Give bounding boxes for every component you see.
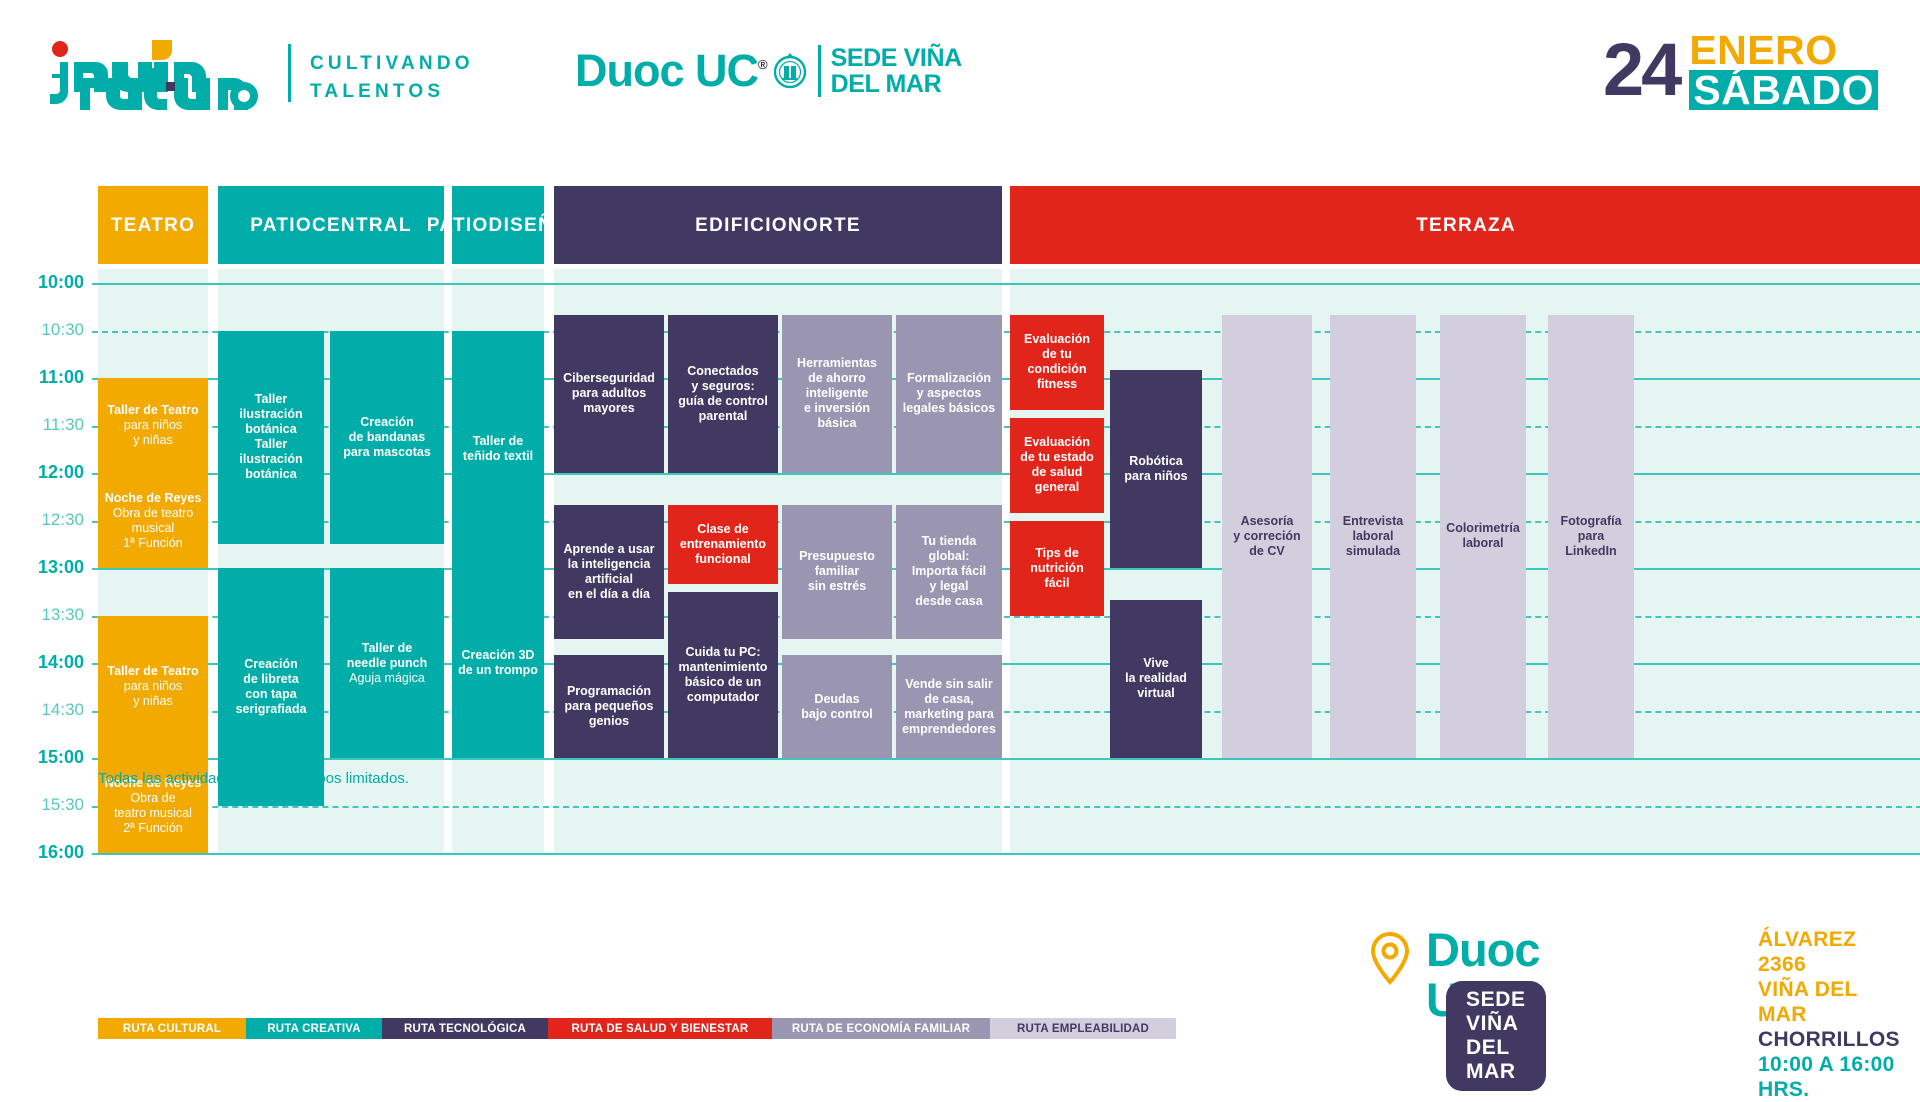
event-title: Taller de Teatro — [107, 664, 198, 679]
legend-item: RUTA CREATIVA — [246, 1018, 382, 1039]
event-title-line: de un trompo — [458, 663, 538, 678]
event-label: Conectadosy seguros:guía de controlparen… — [678, 364, 768, 424]
event-title-line: serigrafiada — [236, 702, 307, 717]
legend-item: RUTA DE SALUD Y BIENESTAR — [548, 1018, 772, 1039]
event-title-line: desde casa — [912, 594, 986, 609]
event-block[interactable]: Tips denutriciónfácil — [1010, 521, 1104, 616]
event-title-line: global: — [912, 549, 986, 564]
event-title-line: Creación 3D — [458, 648, 538, 663]
event-title-line: Herramientas — [797, 356, 877, 371]
event-block[interactable]: Programaciónpara pequeñosgenios — [554, 655, 664, 758]
event-title-line: familiar — [799, 564, 875, 579]
event-label: Ciberseguridadpara adultosmayores — [563, 371, 655, 416]
column-header-terraza: TERRAZA — [1010, 186, 1920, 264]
legend-label: RUTA CULTURAL — [123, 1023, 221, 1035]
event-title-line: y seguros: — [678, 379, 768, 394]
event-title-line: Evaluación — [1020, 435, 1094, 450]
legend-item: RUTA DE ECONOMÍA FAMILIAR — [772, 1018, 990, 1039]
column-header-patio-central: PATIOCENTRAL — [218, 186, 444, 264]
event-title-line: laboral — [1446, 536, 1520, 551]
event-title-line: simulada — [1343, 544, 1403, 559]
event-title-line: para pequeños — [565, 699, 654, 714]
event-title-line: marketing para — [902, 707, 996, 722]
event-title-line: computador — [679, 690, 768, 705]
event-subtitle: Obra de teatro — [105, 506, 202, 521]
time-label-1230: 12:30 — [6, 510, 84, 530]
column-header-label-2: CENTRAL — [312, 214, 412, 237]
event-subtitle: teatro musical — [105, 806, 202, 821]
event-label: Asesoríay correciónde CV — [1233, 514, 1300, 559]
event-title-line: de casa, — [902, 692, 996, 707]
event-title-line: Aprende a usar — [563, 542, 654, 557]
time-label-1130: 11:30 — [6, 415, 84, 435]
event-label: Entrevistalaboralsimulada — [1343, 514, 1403, 559]
column-header-label: TERRAZA — [1416, 214, 1516, 237]
column-header-label: TEATRO — [111, 214, 196, 237]
event-label: Presupuestofamiliarsin estrés — [799, 549, 875, 594]
column-header-label: PATIO — [427, 214, 489, 237]
event-title-line: fitness — [1024, 377, 1090, 392]
event-title-line: artificial — [563, 572, 654, 587]
event-title-line: condición — [1024, 362, 1090, 377]
event-subtitle: Aguja mágica — [347, 671, 428, 686]
event-title-line: de CV — [1233, 544, 1300, 559]
event-title-line: Tu tienda — [912, 534, 986, 549]
event-label: Tips denutriciónfácil — [1030, 546, 1083, 591]
time-gridline — [92, 853, 1920, 855]
event-title-line: básico de un — [679, 675, 768, 690]
event-title-line: Vive — [1125, 656, 1187, 671]
registered-icon: ® — [758, 57, 768, 72]
event-subtitle: para niños — [107, 679, 198, 694]
event-block[interactable]: Evaluaciónde tu estadode saludgeneral — [1010, 418, 1104, 513]
time-label-1500: 15:00 — [6, 747, 84, 768]
event-subtitle: 1ª Función — [105, 536, 202, 551]
event-title-line: Fotografía — [1560, 514, 1621, 529]
event-label: Creaciónde bandanaspara mascotas — [343, 415, 431, 460]
event-block[interactable]: Aprende a usarla inteligenciaartificiale… — [554, 505, 664, 640]
event-title-line: teñido textil — [463, 449, 533, 464]
legend-item: RUTA EMPLEABILIDAD — [990, 1018, 1176, 1039]
event-block[interactable]: Conectadosy seguros:guía de controlparen… — [668, 315, 778, 473]
event-title-line: y correción — [1233, 529, 1300, 544]
column-header-label: PATIO — [250, 214, 312, 237]
event-block[interactable]: Entrevistalaboralsimulada — [1330, 315, 1416, 758]
sede-line-2: DEL MAR — [831, 71, 962, 97]
event-block[interactable]: Formalizacióny aspectoslegales básicos — [896, 315, 1002, 473]
event-subtitle: y niñas — [107, 694, 198, 709]
event-block[interactable]: Taller de Teatropara niñosy niñas — [98, 378, 208, 473]
uc-seal-icon — [770, 48, 810, 95]
event-title-line: Taller de — [347, 641, 428, 656]
event-title-line: Cuida tu PC: — [679, 645, 768, 660]
event-title-line: para adultos — [563, 386, 655, 401]
time-gridline — [92, 758, 1920, 760]
time-label-1400: 14:00 — [6, 652, 84, 673]
legend-label: RUTA DE SALUD Y BIENESTAR — [572, 1023, 749, 1035]
event-block[interactable]: Taller deneedle punchAguja mágica — [330, 568, 444, 758]
event-title-line: en el día a día — [563, 587, 654, 602]
event-title-line: bajo control — [801, 707, 873, 722]
event-title-line: Tips de — [1030, 546, 1083, 561]
address-city: VIÑA DEL MAR — [1758, 977, 1900, 1027]
duoc-uc-logo: Duoc UC®SEDE VIÑADEL MAR — [575, 45, 962, 97]
event-label: Deudasbajo control — [801, 692, 873, 722]
event-title-line: needle punch — [347, 656, 428, 671]
event-title-line: de tu estado — [1020, 450, 1094, 465]
event-label: Creaciónde libretacon tapaserigrafiada — [236, 657, 307, 717]
event-block[interactable]: Creaciónde bandanaspara mascotas — [330, 331, 444, 545]
sede-line-1: SEDE VIÑA — [831, 45, 962, 71]
event-block[interactable]: Presupuestofamiliarsin estrés — [782, 505, 892, 640]
event-title-line: Conectados — [678, 364, 768, 379]
time-label-1300: 13:00 — [6, 557, 84, 578]
event-title-line: virtual — [1125, 686, 1187, 701]
event-block[interactable]: Noche de ReyesObra de teatromusical1ª Fu… — [98, 473, 208, 568]
event-subtitle: para niños — [107, 418, 198, 433]
event-title-line: Clase de — [680, 522, 766, 537]
event-block[interactable]: Taller ilustración botánicaTallerilustra… — [218, 331, 324, 545]
event-title-line: la realidad — [1125, 671, 1187, 686]
event-title-line: laboral — [1343, 529, 1403, 544]
event-title-line: Robótica — [1124, 454, 1187, 469]
jardin-futuro-logo — [48, 38, 258, 110]
footer-address: ÁLVAREZ 2366 VIÑA DEL MAR CHORRILLOS 10:… — [1758, 927, 1900, 1102]
event-title-line: mayores — [563, 401, 655, 416]
event-label: Robóticapara niños — [1124, 454, 1187, 484]
event-block[interactable]: Ciberseguridadpara adultosmayores — [554, 315, 664, 473]
event-title-line: Asesoría — [1233, 514, 1300, 529]
legend-label: RUTA EMPLEABILIDAD — [1017, 1023, 1149, 1035]
duoc-uc-wordmark: Duoc UC — [575, 48, 758, 94]
schedule-grid: TEATROPATIOCENTRALPATIODISEÑOEDIFICIONOR… — [0, 148, 1920, 918]
event-date-badge: 24ENEROSÁBADO — [1603, 30, 1878, 110]
event-title-line: legales básicos — [903, 401, 995, 416]
event-title-line: de tu — [1024, 347, 1090, 362]
event-title-line: de salud — [1020, 465, 1094, 480]
date-weekday: SÁBADO — [1689, 70, 1878, 110]
event-title-line: Deudas — [801, 692, 873, 707]
event-label: Cuida tu PC:mantenimientobásico de uncom… — [679, 645, 768, 705]
column-header-label: EDIFICIO — [695, 214, 788, 237]
event-title-line: de ahorro — [797, 371, 877, 386]
event-block[interactable]: Taller deteñido textil — [452, 331, 544, 569]
event-title-line: Entrevista — [1343, 514, 1403, 529]
event-label: Herramientasde ahorrointeligentee invers… — [797, 356, 877, 431]
event-block[interactable]: Vivela realidadvirtual — [1110, 600, 1202, 758]
event-title-line: de bandanas — [343, 430, 431, 445]
legend-label: RUTA TECNOLÓGICA — [404, 1023, 526, 1035]
event-block[interactable]: FotografíaparaLinkedIn — [1548, 315, 1634, 758]
event-title-line: Taller — [222, 437, 320, 452]
location-pin-icon — [1368, 931, 1412, 990]
event-title: Taller ilustración botánica — [222, 392, 320, 437]
event-label: Evaluaciónde tu estadode saludgeneral — [1020, 435, 1094, 495]
poster-root: CULTIVANDO TALENTOS Duoc UC®SEDE VIÑADEL… — [0, 0, 1920, 1080]
event-label: Creación 3Dde un trompo — [458, 648, 538, 678]
event-title-line: básica — [797, 416, 877, 431]
event-title-line: Creación — [343, 415, 431, 430]
event-block[interactable]: Evaluaciónde tucondiciónfitness — [1010, 315, 1104, 410]
footer-sede-pill: SEDE VIÑA DEL MAR — [1446, 981, 1546, 1091]
event-block[interactable]: Robóticapara niños — [1110, 370, 1202, 568]
event-label: Tu tiendaglobal:Importa fácily legaldesd… — [912, 534, 986, 609]
event-label: Noche de ReyesObra de teatromusical1ª Fu… — [105, 491, 202, 551]
address-district: CHORRILLOS — [1758, 1027, 1900, 1052]
event-title-line: funcional — [680, 552, 766, 567]
event-label: Formalizacióny aspectoslegales básicos — [903, 371, 995, 416]
event-title-line: fácil — [1030, 576, 1083, 591]
column-header-edificio-norte: EDIFICIONORTE — [554, 186, 1002, 264]
legend-item: RUTA TECNOLÓGICA — [382, 1018, 548, 1039]
event-label: Taller de Teatropara niñosy niñas — [107, 403, 198, 448]
event-title-line: Creación — [236, 657, 307, 672]
date-day-number: 24 — [1603, 33, 1679, 107]
event-title-line: sin estrés — [799, 579, 875, 594]
event-title-line: la inteligencia — [563, 557, 654, 572]
time-label-1030: 10:30 — [6, 320, 84, 340]
event-label: Clase deentrenamientofuncional — [680, 522, 766, 567]
event-block[interactable]: Herramientasde ahorrointeligentee invers… — [782, 315, 892, 473]
event-block[interactable]: Cuida tu PC:mantenimientobásico de uncom… — [668, 592, 778, 758]
event-label: Aprende a usarla inteligenciaartificiale… — [563, 542, 654, 602]
event-title-line: ilustración — [222, 452, 320, 467]
event-label: Colorimetríalaboral — [1446, 521, 1520, 551]
event-block[interactable]: Taller de Teatropara niñosy niñas — [98, 616, 208, 759]
brand-tagline: CULTIVANDO TALENTOS — [310, 50, 474, 106]
capacity-note: Todas las actividades son con cupos limi… — [98, 770, 409, 787]
event-title-line: y aspectos — [903, 386, 995, 401]
event-title-line: parental — [678, 409, 768, 424]
event-title-line: de libreta — [236, 672, 307, 687]
event-subtitle: 2ª Función — [105, 821, 202, 836]
event-title-line: y legal — [912, 579, 986, 594]
event-title-line: general — [1020, 480, 1094, 495]
event-title-line: para — [1560, 529, 1621, 544]
legend-label: RUTA CREATIVA — [267, 1023, 361, 1035]
event-title-line: guía de control — [678, 394, 768, 409]
time-label-1100: 11:00 — [6, 367, 84, 388]
event-title-line: Evaluación — [1024, 332, 1090, 347]
time-label-1000: 10:00 — [6, 272, 84, 293]
event-title: Taller de Teatro — [107, 403, 198, 418]
time-label-1200: 12:00 — [6, 462, 84, 483]
event-title: Noche de Reyes — [105, 491, 202, 506]
event-title-line: Formalización — [903, 371, 995, 386]
event-block[interactable]: Deudasbajo control — [782, 655, 892, 758]
header-divider — [288, 44, 291, 102]
time-label-1530: 15:30 — [6, 795, 84, 815]
event-label: Evaluaciónde tucondiciónfitness — [1024, 332, 1090, 392]
event-title-line: LinkedIn — [1560, 544, 1621, 559]
address-street: ÁLVAREZ 2366 — [1758, 927, 1900, 977]
legend-item: RUTA CULTURAL — [98, 1018, 246, 1039]
event-label: Vende sin salirde casa,marketing paraemp… — [902, 677, 996, 737]
event-title-line: Ciberseguridad — [563, 371, 655, 386]
time-label-1430: 14:30 — [6, 700, 84, 720]
event-title-line: e inversión — [797, 401, 877, 416]
event-title-line: para niños — [1124, 469, 1187, 484]
event-block[interactable]: Colorimetríalaboral — [1440, 315, 1526, 758]
tagline-line-1: CULTIVANDO — [310, 50, 474, 78]
event-block[interactable]: Tu tiendaglobal:Importa fácily legaldesd… — [896, 505, 1002, 640]
event-title-line: Vende sin salir — [902, 677, 996, 692]
tagline-line-2: TALENTOS — [310, 78, 474, 106]
event-label: Taller deteñido textil — [463, 434, 533, 464]
legend-label: RUTA DE ECONOMÍA FAMILIAR — [792, 1023, 970, 1035]
event-block[interactable]: Creación 3Dde un trompo — [452, 568, 544, 758]
event-label: Taller de Teatropara niñosy niñas — [107, 664, 198, 709]
event-label: Programaciónpara pequeñosgenios — [565, 684, 654, 729]
date-month: ENERO — [1689, 30, 1878, 70]
event-subtitle: musical — [105, 521, 202, 536]
event-title-line: Presupuesto — [799, 549, 875, 564]
event-title-line: emprendedores — [902, 722, 996, 737]
event-label: FotografíaparaLinkedIn — [1560, 514, 1621, 559]
event-title-line: Importa fácil — [912, 564, 986, 579]
event-title-line: Taller de — [463, 434, 533, 449]
event-block[interactable]: Vende sin salirde casa,marketing paraemp… — [896, 655, 1002, 758]
event-subtitle: Obra de — [105, 791, 202, 806]
event-block[interactable]: Clase deentrenamientofuncional — [668, 505, 778, 584]
column-header-teatro: TEATRO — [98, 186, 208, 264]
event-title-line: genios — [565, 714, 654, 729]
event-title-line: nutrición — [1030, 561, 1083, 576]
event-title-line: con tapa — [236, 687, 307, 702]
time-label-1600: 16:00 — [6, 842, 84, 863]
duoc-sede-label: SEDE VIÑADEL MAR — [831, 45, 962, 97]
address-hours: 10:00 A 16:00 HRS. — [1758, 1052, 1900, 1102]
event-title-line: botánica — [222, 467, 320, 482]
event-title-line: Programación — [565, 684, 654, 699]
event-title-line: entrenamiento — [680, 537, 766, 552]
event-block[interactable]: Asesoríay correciónde CV — [1222, 315, 1312, 758]
event-title-line: inteligente — [797, 386, 877, 401]
page-header: CULTIVANDO TALENTOS Duoc UC®SEDE VIÑADEL… — [0, 0, 1920, 148]
ruta-legend: RUTA CULTURALRUTA CREATIVARUTA TECNOLÓGI… — [98, 1018, 1176, 1039]
column-header-label-2: NORTE — [788, 214, 861, 237]
date-text-block: ENEROSÁBADO — [1689, 30, 1878, 110]
time-gridline — [92, 806, 1920, 808]
event-label: Taller deneedle punchAguja mágica — [347, 641, 428, 686]
time-gridline — [92, 283, 1920, 285]
logo-divider — [818, 45, 821, 97]
time-label-1330: 13:30 — [6, 605, 84, 625]
event-title-line: para mascotas — [343, 445, 431, 460]
event-label: Taller ilustración botánicaTallerilustra… — [222, 392, 320, 482]
event-title-line: mantenimiento — [679, 660, 768, 675]
event-subtitle: y niñas — [107, 433, 198, 448]
column-header-patio-diseno: PATIODISEÑO — [452, 186, 544, 264]
event-title-line: Colorimetría — [1446, 521, 1520, 536]
event-label: Vivela realidadvirtual — [1125, 656, 1187, 701]
